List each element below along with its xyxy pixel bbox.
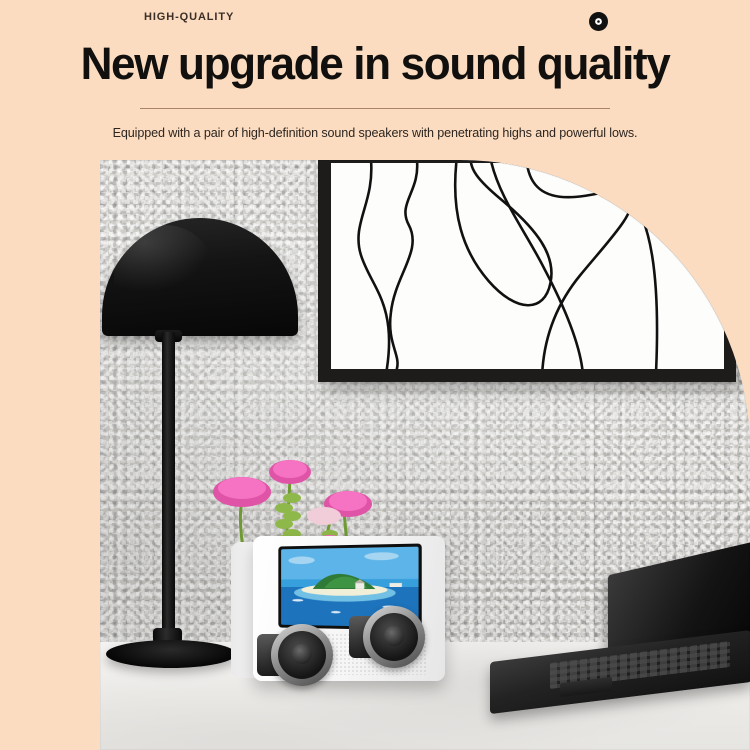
vinyl-record-icon: [589, 12, 608, 31]
speaker-driver-left: [271, 624, 333, 686]
framed-artwork: [318, 160, 736, 382]
abstract-line-art-icon: [331, 163, 724, 369]
product-photo: [100, 160, 750, 750]
laptop: [490, 560, 750, 710]
page-title: New upgrade in sound quality: [8, 38, 743, 90]
header-divider: [140, 108, 610, 109]
speaker-device: [245, 536, 460, 696]
page-header: HIGH-QUALITY New upgrade in sound qualit…: [0, 0, 750, 158]
lamp-base: [106, 640, 236, 668]
artwork-canvas: [331, 163, 724, 369]
driver-dustcap-right: [384, 626, 404, 646]
driver-dustcap-left: [292, 644, 312, 664]
eyebrow-label: HIGH-QUALITY: [144, 11, 234, 23]
page-subtitle: Equipped with a pair of high-definition …: [0, 124, 750, 142]
photo-scene: [100, 160, 750, 750]
speaker-driver-right: [363, 606, 425, 668]
lamp-stem: [162, 332, 175, 650]
